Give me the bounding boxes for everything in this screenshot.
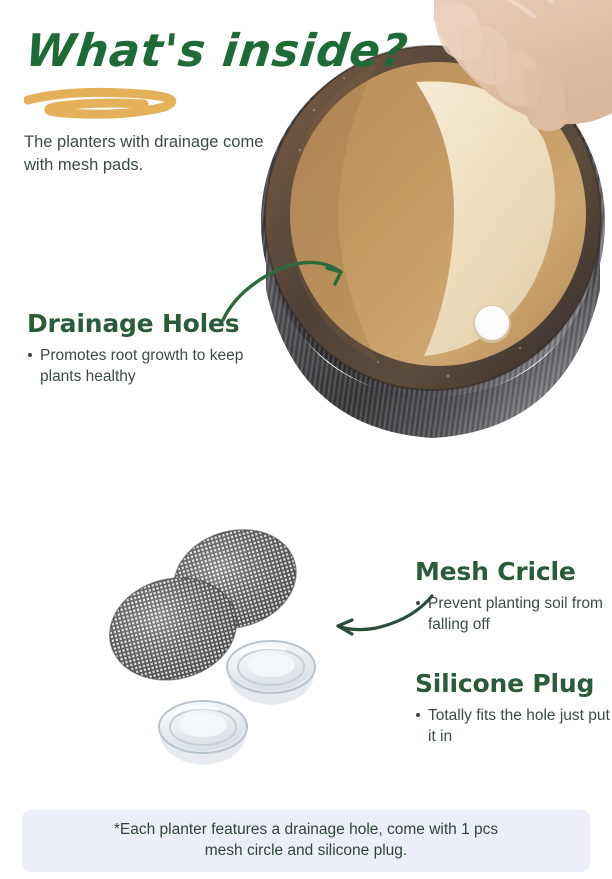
title-block: What's inside? xyxy=(26,28,356,128)
silicone-plug-upper xyxy=(227,641,315,705)
section-mesh-circle: Mesh Cricle Prevent planting soil from f… xyxy=(415,558,605,635)
footer-note-banner: *Each planter features a drainage hole, … xyxy=(22,810,590,872)
infographic-page: What's inside? The planters with drainag… xyxy=(0,0,612,879)
section-silicone-plug: Silicone Plug Totally fits the hole just… xyxy=(415,670,610,747)
section-heading-drainage-holes: Drainage Holes xyxy=(27,310,272,338)
bullet-list-silicone-plug: Totally fits the hole just put it in xyxy=(415,705,610,747)
list-item: Promotes root growth to keep plants heal… xyxy=(27,345,272,387)
footer-note-line1: *Each planter features a drainage hole, … xyxy=(114,821,498,838)
footer-note-text: *Each planter features a drainage hole, … xyxy=(88,820,524,861)
section-heading-silicone-plug: Silicone Plug xyxy=(415,670,610,698)
list-item: Prevent planting soil from falling off xyxy=(415,593,605,635)
bullet-list-mesh-circle: Prevent planting soil from falling off xyxy=(415,593,605,635)
section-heading-mesh-circle: Mesh Cricle xyxy=(415,558,605,586)
section-drainage-holes: Drainage Holes Promotes root growth to k… xyxy=(27,310,272,387)
bullet-list-drainage-holes: Promotes root growth to keep plants heal… xyxy=(27,345,272,387)
silicone-plug-lower xyxy=(159,701,247,765)
page-title: What's inside? xyxy=(24,28,359,73)
footer-note-line2: mesh circle and silicone plug. xyxy=(205,842,407,859)
subtitle: The planters with drainage come with mes… xyxy=(24,131,286,178)
title-underline-swoosh xyxy=(24,86,199,120)
drainage-hole xyxy=(473,305,511,343)
list-item: Totally fits the hole just put it in xyxy=(415,705,610,747)
